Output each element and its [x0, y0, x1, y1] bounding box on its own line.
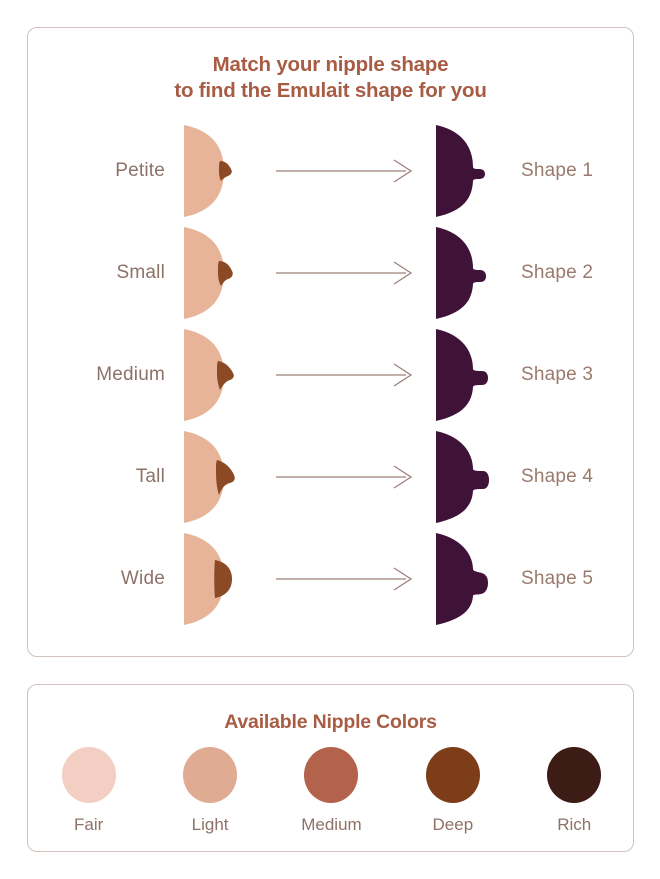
match-row: Medium [28, 324, 635, 426]
color-swatch-deep[interactable]: Deep [398, 747, 508, 835]
color-swatch-fair[interactable]: Fair [34, 747, 144, 835]
swatch-dot-icon [183, 747, 237, 803]
arrow-right-icon [276, 363, 416, 387]
breast-profile-icon [180, 123, 236, 219]
arrow-right-icon [276, 567, 416, 591]
swatch-label: Fair [74, 815, 103, 835]
available-colors-card: Available Nipple Colors Fair Light Mediu… [27, 684, 634, 852]
mapping-arrow [258, 363, 433, 387]
swatch-dot-icon [304, 747, 358, 803]
color-swatch-light[interactable]: Light [155, 747, 265, 835]
emulait-shape-label: Shape 1 [505, 160, 635, 182]
infographic-page: Match your nipple shape to find the Emul… [0, 0, 660, 879]
teat-profile-icon [433, 429, 489, 525]
swatch-label: Medium [301, 815, 361, 835]
nipple-shape-label: Tall [28, 466, 180, 488]
breast-profile-medium [180, 327, 258, 423]
emulait-shape-label: Shape 5 [505, 568, 635, 590]
bottle-teat-shape-1 [433, 123, 505, 219]
color-swatch-row: Fair Light Medium Deep Rich [28, 747, 635, 835]
arrow-right-icon [276, 261, 416, 285]
breast-profile-tall [180, 429, 258, 525]
color-swatch-rich[interactable]: Rich [519, 747, 629, 835]
bottle-teat-shape-5 [433, 531, 505, 627]
swatch-dot-icon [62, 747, 116, 803]
breast-profile-icon [180, 429, 236, 525]
swatch-dot-icon [547, 747, 601, 803]
match-row: Petite [28, 120, 635, 222]
mapping-arrow [258, 159, 433, 183]
match-row: Tall Sh [28, 426, 635, 528]
arrow-right-icon [276, 159, 416, 183]
colors-card-title: Available Nipple Colors [28, 710, 633, 734]
match-title-line-2: to find the Emulait shape for you [28, 78, 633, 104]
teat-profile-icon [433, 123, 489, 219]
bottle-teat-shape-3 [433, 327, 505, 423]
teat-profile-icon [433, 327, 489, 423]
mapping-arrow [258, 465, 433, 489]
match-shape-card: Match your nipple shape to find the Emul… [27, 27, 634, 657]
emulait-shape-label: Shape 3 [505, 364, 635, 386]
breast-profile-small [180, 225, 258, 321]
nipple-shape-label: Small [28, 262, 180, 284]
breast-profile-petite [180, 123, 258, 219]
mapping-arrow [258, 567, 433, 591]
match-row: Wide Sh [28, 528, 635, 630]
teat-profile-icon [433, 531, 489, 627]
swatch-label: Rich [557, 815, 591, 835]
nipple-shape-label: Petite [28, 160, 180, 182]
breast-profile-wide [180, 531, 258, 627]
match-rows: Petite [28, 120, 635, 630]
teat-profile-icon [433, 225, 489, 321]
nipple-shape-label: Wide [28, 568, 180, 590]
match-card-title: Match your nipple shape to find the Emul… [28, 52, 633, 104]
breast-profile-icon [180, 225, 236, 321]
emulait-shape-label: Shape 2 [505, 262, 635, 284]
swatch-label: Light [192, 815, 229, 835]
emulait-shape-label: Shape 4 [505, 466, 635, 488]
color-swatch-medium[interactable]: Medium [276, 747, 386, 835]
arrow-right-icon [276, 465, 416, 489]
bottle-teat-shape-2 [433, 225, 505, 321]
swatch-label: Deep [433, 815, 474, 835]
match-row: Small S [28, 222, 635, 324]
nipple-shape-label: Medium [28, 364, 180, 386]
match-title-line-1: Match your nipple shape [213, 53, 449, 76]
breast-profile-icon [180, 327, 236, 423]
bottle-teat-shape-4 [433, 429, 505, 525]
breast-profile-icon [180, 531, 236, 627]
mapping-arrow [258, 261, 433, 285]
swatch-dot-icon [426, 747, 480, 803]
